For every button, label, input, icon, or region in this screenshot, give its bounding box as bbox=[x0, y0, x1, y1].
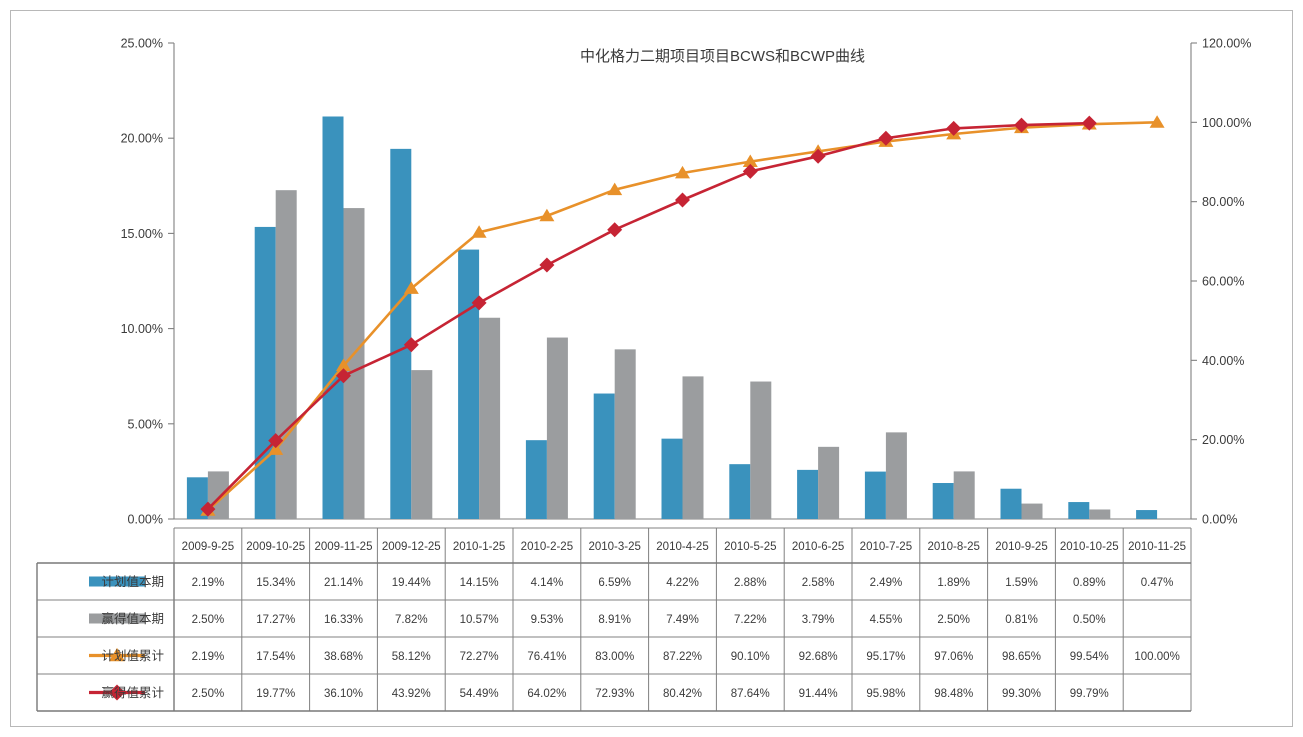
table-header-3: 2009-12-25 bbox=[382, 541, 441, 553]
table-header-1: 2009-10-25 bbox=[246, 541, 305, 553]
bar-plan-2[interactable] bbox=[323, 116, 344, 519]
table-cell-r0-c1: 15.34% bbox=[256, 577, 295, 589]
table-cell-r1-c12: 0.81% bbox=[1005, 614, 1038, 626]
table-cell-r1-c2: 16.33% bbox=[324, 614, 363, 626]
table-cell-r2-c3: 58.12% bbox=[392, 651, 431, 663]
table-cell-r0-c8: 2.88% bbox=[734, 577, 767, 589]
bar-plan-5[interactable] bbox=[526, 440, 547, 519]
table-cell-r0-c6: 6.59% bbox=[598, 577, 631, 589]
table-cell-r0-c13: 0.89% bbox=[1073, 577, 1106, 589]
table-cell-r3-c2: 36.10% bbox=[324, 688, 363, 700]
table-cell-r3-c1: 19.77% bbox=[256, 688, 295, 700]
table-cell-r0-c12: 1.59% bbox=[1005, 577, 1038, 589]
table-cell-r0-c9: 2.58% bbox=[802, 577, 835, 589]
bar-earned-7[interactable] bbox=[683, 376, 704, 519]
table-cell-r1-c3: 7.82% bbox=[395, 614, 428, 626]
bar-plan-12[interactable] bbox=[1001, 489, 1022, 519]
table-cell-r2-c11: 97.06% bbox=[934, 651, 973, 663]
table-header-14: 2010-11-25 bbox=[1128, 541, 1186, 553]
chart-frame: 中化格力二期项目项目BCWS和BCWP曲线0.00%5.00%10.00%15.… bbox=[10, 10, 1293, 727]
table-cell-r0-c11: 1.89% bbox=[937, 577, 970, 589]
right-axis-tick-label: 120.00% bbox=[1202, 37, 1251, 51]
marker-diamond-7[interactable] bbox=[675, 193, 690, 208]
right-axis-tick-label: 80.00% bbox=[1202, 195, 1244, 209]
table-cell-r2-c12: 98.65% bbox=[1002, 651, 1041, 663]
table-cell-r2-c10: 95.17% bbox=[866, 651, 905, 663]
right-axis-tick-label: 0.00% bbox=[1202, 513, 1237, 527]
left-axis-tick-label: 20.00% bbox=[121, 132, 163, 146]
table-header-10: 2010-7-25 bbox=[860, 541, 912, 553]
table-cell-r0-c5: 4.14% bbox=[531, 577, 564, 589]
bar-earned-9[interactable] bbox=[818, 447, 839, 519]
table-cell-r3-c12: 99.30% bbox=[1002, 688, 1041, 700]
bar-plan-13[interactable] bbox=[1068, 502, 1089, 519]
table-cell-r3-c4: 54.49% bbox=[460, 688, 499, 700]
bar-earned-5[interactable] bbox=[547, 338, 568, 519]
bar-plan-11[interactable] bbox=[933, 483, 954, 519]
legend-label-3: 赢得值累计 bbox=[101, 685, 164, 700]
table-cell-r2-c13: 99.54% bbox=[1070, 651, 1109, 663]
table-header-13: 2010-10-25 bbox=[1060, 541, 1119, 553]
bar-plan-10[interactable] bbox=[865, 472, 886, 519]
table-cell-r2-c6: 83.00% bbox=[595, 651, 634, 663]
table-cell-r0-c4: 14.15% bbox=[460, 577, 499, 589]
left-axis-tick-label: 15.00% bbox=[121, 227, 163, 241]
bar-earned-10[interactable] bbox=[886, 432, 907, 519]
table-cell-r1-c6: 8.91% bbox=[598, 614, 631, 626]
table-cell-r1-c1: 17.27% bbox=[256, 614, 295, 626]
bar-plan-6[interactable] bbox=[594, 394, 615, 519]
legend-label-1: 赢得值本期 bbox=[101, 611, 164, 626]
legend-label-2: 计划值累计 bbox=[101, 648, 164, 663]
table-header-9: 2010-6-25 bbox=[792, 541, 844, 553]
table-cell-r3-c3: 43.92% bbox=[392, 688, 431, 700]
table-cell-r3-c5: 64.02% bbox=[527, 688, 566, 700]
left-axis-tick-label: 0.00% bbox=[128, 513, 163, 527]
marker-diamond-6[interactable] bbox=[607, 222, 622, 237]
table-cell-r2-c4: 72.27% bbox=[460, 651, 499, 663]
table-cell-r2-c2: 38.68% bbox=[324, 651, 363, 663]
right-axis-tick-label: 20.00% bbox=[1202, 433, 1244, 447]
table-cell-r1-c5: 9.53% bbox=[531, 614, 564, 626]
marker-diamond-5[interactable] bbox=[539, 258, 554, 273]
table-header-7: 2010-4-25 bbox=[656, 541, 708, 553]
legend-label-0: 计划值本期 bbox=[101, 574, 164, 589]
table-cell-r2-c0: 2.19% bbox=[192, 651, 225, 663]
table-header-6: 2010-3-25 bbox=[588, 541, 640, 553]
left-axis-tick-label: 25.00% bbox=[121, 37, 163, 51]
table-cell-r2-c9: 92.68% bbox=[799, 651, 838, 663]
table-cell-r3-c10: 95.98% bbox=[866, 688, 905, 700]
table-cell-r3-c9: 91.44% bbox=[799, 688, 838, 700]
bar-earned-12[interactable] bbox=[1022, 504, 1043, 519]
bar-plan-9[interactable] bbox=[797, 470, 818, 519]
chart-title: 中化格力二期项目项目BCWS和BCWP曲线 bbox=[580, 48, 865, 65]
bar-earned-6[interactable] bbox=[615, 349, 636, 519]
table-cell-r1-c4: 10.57% bbox=[460, 614, 499, 626]
table-header-12: 2010-9-25 bbox=[995, 541, 1047, 553]
table-cell-r3-c0: 2.50% bbox=[192, 688, 225, 700]
table-cell-r1-c11: 2.50% bbox=[937, 614, 970, 626]
table-cell-r1-c10: 4.55% bbox=[870, 614, 903, 626]
table-cell-r2-c8: 90.10% bbox=[731, 651, 770, 663]
table-cell-r0-c2: 21.14% bbox=[324, 577, 363, 589]
table-cell-r0-c14: 0.47% bbox=[1141, 577, 1174, 589]
table-cell-r2-c5: 76.41% bbox=[527, 651, 566, 663]
table-cell-r0-c0: 2.19% bbox=[192, 577, 225, 589]
table-header-0: 2009-9-25 bbox=[182, 541, 234, 553]
table-cell-r2-c14: 100.00% bbox=[1134, 651, 1179, 663]
table-cell-r3-c6: 72.93% bbox=[595, 688, 634, 700]
bar-plan-14[interactable] bbox=[1136, 510, 1157, 519]
table-cell-r1-c0: 2.50% bbox=[192, 614, 225, 626]
table-cell-r0-c3: 19.44% bbox=[392, 577, 431, 589]
bar-earned-13[interactable] bbox=[1089, 509, 1110, 519]
table-cell-r1-c8: 7.22% bbox=[734, 614, 767, 626]
table-header-11: 2010-8-25 bbox=[927, 541, 979, 553]
table-cell-r0-c10: 2.49% bbox=[870, 577, 903, 589]
left-axis-tick-label: 10.00% bbox=[121, 322, 163, 336]
right-axis-tick-label: 60.00% bbox=[1202, 275, 1244, 289]
table-cell-r0-c7: 4.22% bbox=[666, 577, 699, 589]
table-cell-r2-c7: 87.22% bbox=[663, 651, 702, 663]
table-header-4: 2010-1-25 bbox=[453, 541, 505, 553]
table-cell-r2-c1: 17.54% bbox=[256, 651, 295, 663]
table-header-5: 2010-2-25 bbox=[521, 541, 573, 553]
table-header-2: 2009-11-25 bbox=[315, 541, 373, 553]
bar-earned-11[interactable] bbox=[954, 471, 975, 519]
table-cell-r1-c13: 0.50% bbox=[1073, 614, 1106, 626]
bar-earned-3[interactable] bbox=[411, 370, 432, 519]
right-axis-tick-label: 40.00% bbox=[1202, 354, 1244, 368]
right-axis-tick-label: 100.00% bbox=[1202, 116, 1251, 130]
table-cell-r1-c7: 7.49% bbox=[666, 614, 699, 626]
table-cell-r1-c9: 3.79% bbox=[802, 614, 835, 626]
bar-plan-7[interactable] bbox=[662, 439, 683, 519]
left-axis-tick-label: 5.00% bbox=[128, 417, 163, 431]
bar-plan-3[interactable] bbox=[390, 149, 411, 519]
bcws-bcwp-chart: 中化格力二期项目项目BCWS和BCWP曲线0.00%5.00%10.00%15.… bbox=[11, 11, 1292, 726]
bar-earned-4[interactable] bbox=[479, 318, 500, 519]
bar-plan-8[interactable] bbox=[729, 464, 750, 519]
table-cell-r3-c8: 87.64% bbox=[731, 688, 770, 700]
bar-earned-1[interactable] bbox=[276, 190, 297, 519]
table-cell-r3-c11: 98.48% bbox=[934, 688, 973, 700]
bar-plan-1[interactable] bbox=[255, 227, 276, 519]
table-header-8: 2010-5-25 bbox=[724, 541, 776, 553]
bar-plan-4[interactable] bbox=[458, 250, 479, 519]
table-cell-r3-c13: 99.79% bbox=[1070, 688, 1109, 700]
bar-earned-8[interactable] bbox=[750, 382, 771, 519]
table-cell-r3-c7: 80.42% bbox=[663, 688, 702, 700]
